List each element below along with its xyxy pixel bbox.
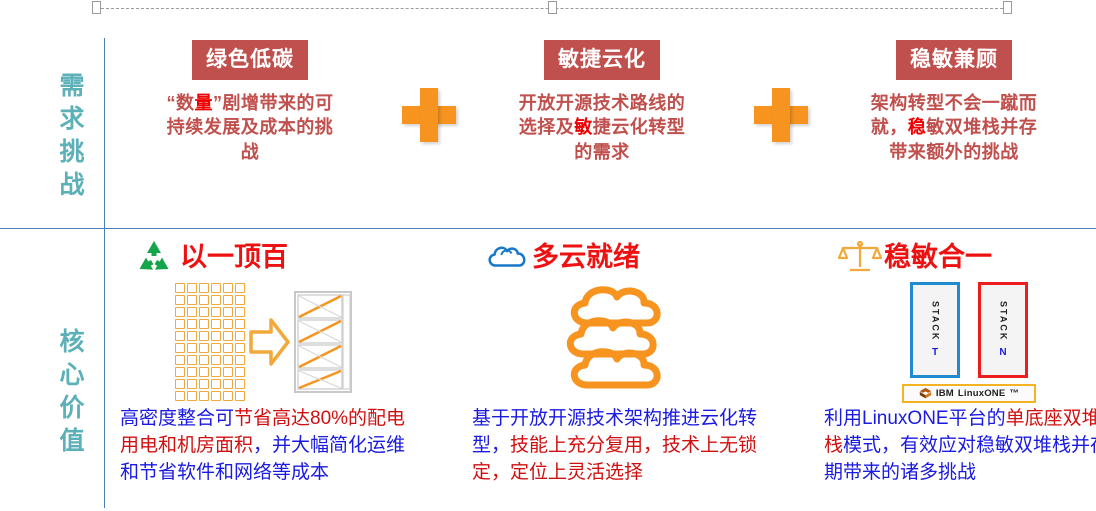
challenge-body: “数量”剧增带来的可持续发展及成本的挑战 (160, 91, 340, 164)
arrow-right-icon (247, 312, 291, 372)
horizontal-divider (0, 228, 1096, 229)
many-servers-grid (175, 283, 245, 401)
value-title: 多云就绪 (532, 244, 640, 271)
challenge-body: 架构转型不会一蹴而就，稳敏双堆栈并存带来额外的挑战 (864, 91, 1044, 164)
balance-scale-icon (838, 239, 878, 275)
value-card-stable-agile-unified[interactable]: 稳敏合一 STACK T STACK N (824, 236, 1096, 487)
brand-prefix: IBM (936, 388, 954, 399)
stack-label: STACK (999, 301, 1008, 341)
value-description: 高密度整合可节省高达80%的配电用电和机房面积，并大幅简化运维和节省软件和网络等… (120, 406, 410, 487)
challenge-heading: 稳敏兼顾 (896, 40, 1012, 80)
value-description: 利用LinuxONE平台的单底座双堆栈模式，有效应对稳敏双堆栈并存期带来的诸多挑… (824, 406, 1096, 487)
challenge-heading: 敏捷云化 (544, 40, 660, 80)
stack-tag: T (932, 347, 938, 358)
stack-label: STACK (931, 301, 940, 341)
value-title: 稳敏合一 (884, 244, 992, 271)
value-desc-seg: 利用LinuxONE平台的 (824, 408, 1006, 429)
linuxone-logo-icon (919, 387, 932, 400)
slide-canvas: 需求挑战 核心价值 绿色低碳 “数量”剧增带来的可持续发展及成本的挑战 敏捷云化… (0, 0, 1096, 511)
stack-tag: N (999, 347, 1006, 358)
stack-box-n: STACK N (978, 282, 1028, 378)
stacked-clouds-art (472, 278, 762, 406)
brand-tm: ™ (1009, 388, 1019, 399)
consolidated-rack (293, 290, 355, 394)
challenge-body: 开放开源技术路线的选择及敏捷云化转型的需求 (512, 91, 692, 164)
value-desc-seg: 高密度整合可 (120, 408, 234, 429)
section-label-core-value: 核心价值 (26, 328, 82, 460)
selection-handle-right[interactable] (1003, 1, 1012, 14)
recycle-icon (134, 239, 174, 275)
selection-handle-left[interactable] (92, 1, 101, 14)
challenge-body-highlight: 敏 (574, 117, 593, 137)
challenge-body-highlight: 稳 (908, 117, 927, 137)
selection-handle-middle[interactable] (548, 1, 557, 14)
section-label-demand-challenge: 需求挑战 (26, 72, 82, 204)
value-description: 基于开放开源技术架构推进云化转型，技能上充分复用，技术上无锁定，定位上灵活选择 (472, 406, 762, 487)
challenge-heading: 绿色低碳 (192, 40, 308, 80)
challenge-body-seg: “数 (167, 93, 195, 113)
challenge-body-highlight: 量 (195, 93, 214, 113)
value-desc-seg: 模式，有效应对稳敏双堆栈并存期带来的诸多挑战 (824, 435, 1096, 483)
challenge-card-green-low-carbon[interactable]: 绿色低碳 “数量”剧增带来的可持续发展及成本的挑战 (160, 40, 340, 164)
value-card-multicloud-ready[interactable]: 多云就绪 基于开放开源技术架构推进云化转型，技能上充分复用，技术上无锁定，定位上… (472, 236, 762, 487)
challenge-card-stable-agile[interactable]: 稳敏兼顾 架构转型不会一蹴而就，稳敏双堆栈并存带来额外的挑战 (864, 40, 1044, 164)
value-card-one-for-hundred[interactable]: 以一顶百 (120, 236, 410, 487)
stack-box-t: STACK T (910, 282, 960, 378)
values-row: 以一顶百 (112, 236, 1096, 511)
value-desc-highlight: 技能上充分复用，技术上无锁定，定位上灵活选择 (472, 435, 757, 483)
plus-icon (754, 88, 808, 142)
plus-icon (402, 88, 456, 142)
challenges-row: 绿色低碳 “数量”剧增带来的可持续发展及成本的挑战 敏捷云化 开放开源技术路线的… (112, 40, 1096, 226)
brand-name: LinuxONE (958, 388, 1006, 399)
linuxone-brand-bar: IBM LinuxONE ™ (902, 384, 1036, 403)
challenge-card-agile-cloud[interactable]: 敏捷云化 开放开源技术路线的选择及敏捷云化转型的需求 (512, 40, 692, 164)
cloud-icon (486, 239, 526, 275)
value-title: 以一顶百 (180, 244, 288, 271)
vertical-divider (104, 38, 105, 508)
linuxone-dual-stack-art: STACK T STACK N (824, 278, 1096, 406)
server-rack-consolidation-art (120, 278, 410, 406)
